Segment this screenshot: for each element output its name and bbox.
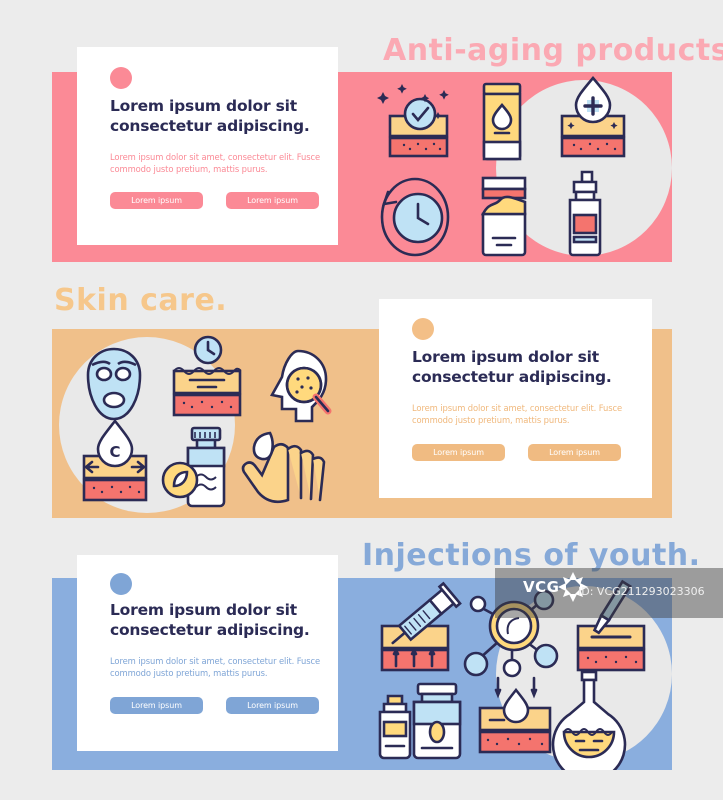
accent-dot-skin-care (412, 318, 434, 340)
watermark-logo-text: VCG (523, 578, 559, 596)
illustration-skin-care: C (52, 329, 379, 518)
skin-layers-check-icon (377, 84, 449, 156)
banner-headline-anti-aging: Anti-aging products. (383, 33, 723, 68)
card-title-injections: Lorem ipsum dolor sit consectetur adipis… (110, 600, 325, 640)
spray-bottle-icon (570, 172, 600, 255)
cream-tube-icon (484, 84, 520, 159)
svg-text:C: C (109, 443, 120, 461)
cta-button-primary-anti-aging[interactable]: Lorem ipsum (110, 192, 203, 209)
cta-button-secondary-skin-care[interactable]: Lorem ipsum (528, 444, 621, 461)
card-subtitle-skin-care: Lorem ipsum dolor sit amet, consectetur … (412, 403, 637, 426)
card-subtitle-anti-aging: Lorem ipsum dolor sit amet, consectetur … (110, 152, 325, 175)
hand-cotton-pad-icon (243, 433, 324, 502)
accent-dot-injections (110, 573, 132, 595)
cta-button-primary-skin-care[interactable]: Lorem ipsum (412, 444, 505, 461)
cta-button-secondary-anti-aging[interactable]: Lorem ipsum (226, 192, 319, 209)
banner-headline-skin-care: Skin care. (54, 283, 227, 318)
watermark-id-label: ID: VCG211293023306 (578, 585, 705, 598)
illustration-anti-aging (352, 72, 672, 262)
accent-dot-anti-aging (110, 67, 132, 89)
cta-button-secondary-injections[interactable]: Lorem ipsum (226, 697, 319, 714)
poster-canvas: Anti-aging products. (0, 0, 723, 800)
face-magnifier-icon (272, 351, 328, 421)
syringe-skin-injection-icon (382, 583, 460, 670)
card-button-row-skin-care: Lorem ipsum Lorem ipsum (412, 444, 621, 461)
dropper-and-vial-icon (380, 684, 460, 758)
card-title-skin-care: Lorem ipsum dolor sit consectetur adipis… (412, 347, 637, 387)
clock-rotate-icon (382, 179, 448, 255)
card-button-row-injections: Lorem ipsum Lorem ipsum (110, 697, 319, 714)
cta-button-primary-injections[interactable]: Lorem ipsum (110, 697, 203, 714)
card-button-row-anti-aging: Lorem ipsum Lorem ipsum (110, 192, 319, 209)
cream-jar-icon (483, 178, 525, 255)
card-title-anti-aging: Lorem ipsum dolor sit consectetur adipis… (110, 96, 325, 136)
face-sheet-mask-icon (88, 349, 140, 419)
card-subtitle-injections: Lorem ipsum dolor sit amet, consectetur … (110, 656, 325, 679)
